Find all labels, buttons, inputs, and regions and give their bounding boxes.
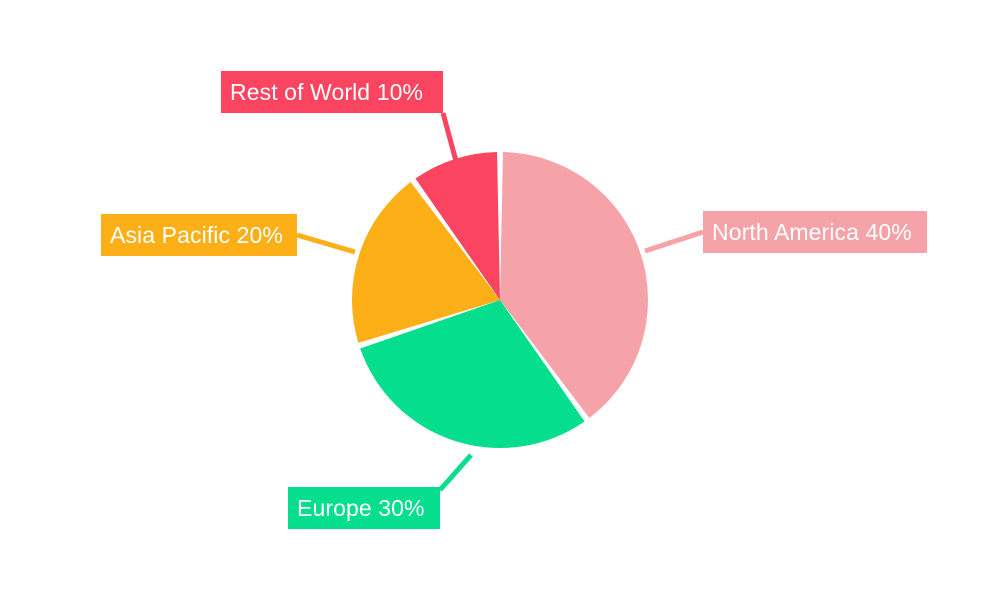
pie-label-north-america-text: North America 40% xyxy=(712,221,912,244)
leader-line-europe xyxy=(440,455,471,490)
pie-label-rest-of-world-text: Rest of World 10% xyxy=(230,81,423,104)
leader-line-north-america xyxy=(645,232,703,251)
leader-line-rest-of-world xyxy=(443,113,456,161)
pie-label-asia-pacific[interactable]: Asia Pacific 20% xyxy=(101,214,297,256)
pie-label-rest-of-world[interactable]: Rest of World 10% xyxy=(221,71,443,113)
pie-chart-canvas xyxy=(0,0,1000,600)
pie-label-asia-pacific-text: Asia Pacific 20% xyxy=(110,224,283,247)
leader-line-asia-pacific xyxy=(297,235,355,252)
pie-chart: North America 40% Europe 30% Asia Pacifi… xyxy=(0,0,1000,600)
pie-label-north-america[interactable]: North America 40% xyxy=(703,211,927,253)
pie-label-europe-text: Europe 30% xyxy=(297,497,425,520)
pie-slices xyxy=(352,152,648,448)
pie-label-europe[interactable]: Europe 30% xyxy=(288,487,440,529)
